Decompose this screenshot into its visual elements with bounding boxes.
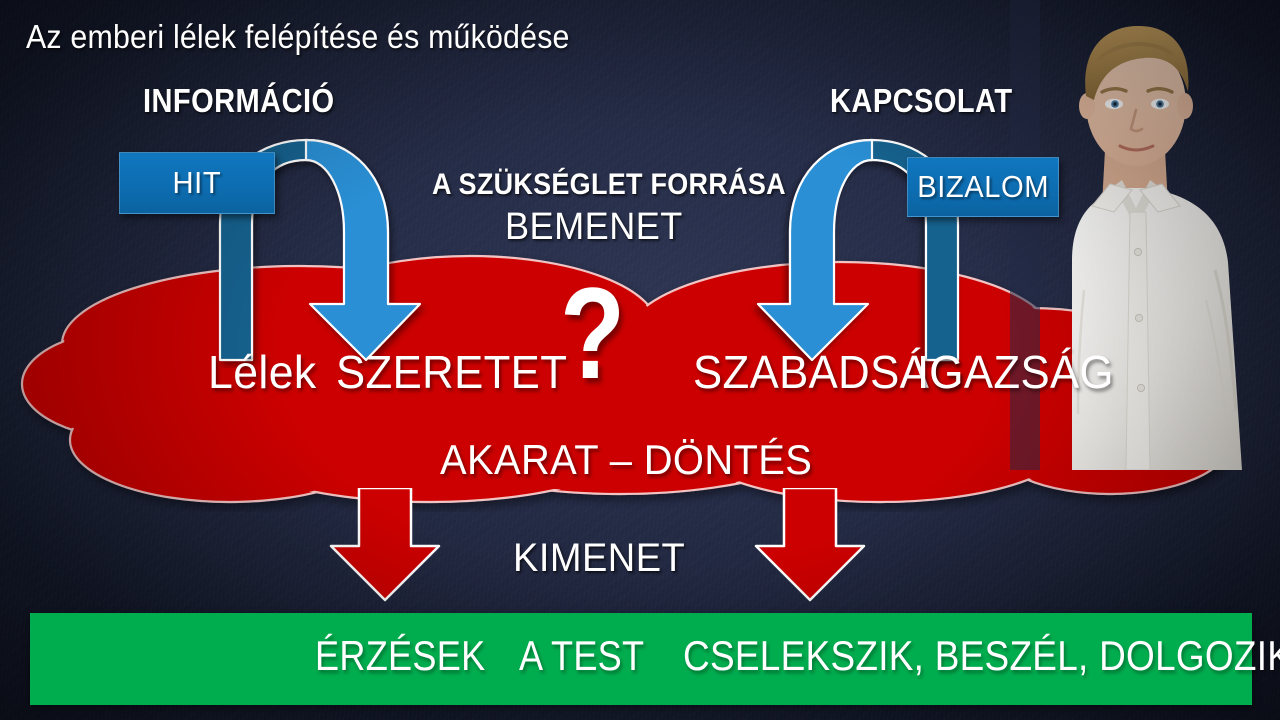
output-arrow-right-icon [750, 488, 870, 603]
cloud-word-lelek: Lélek [208, 345, 317, 399]
label-kimenet: KIMENET [513, 536, 685, 581]
cloud-word-akarat-dontes: AKARAT – DÖNTÉS [440, 436, 812, 484]
slide-title: Az emberi lélek felépítése és működése [26, 18, 570, 56]
green-bar-erzesek: ÉRZÉSEK [315, 632, 485, 680]
label-bemenet: BEMENET [505, 206, 683, 249]
slide-canvas: Az emberi lélek felépítése és működése I… [0, 0, 1280, 720]
cloud-word-szeretet: SZERETET [336, 345, 567, 399]
box-bizalom-label: BIZALOM [917, 169, 1049, 205]
cloud-word-igazsag: IGAZSÁG [917, 345, 1114, 399]
box-hit-label: HIT [173, 165, 222, 201]
person-photo [1010, 0, 1280, 470]
box-hit[interactable]: HIT [119, 152, 275, 214]
green-bar-cselekszik: CSELEKSZIK, BESZÉL, DOLGOZIK [683, 632, 1280, 680]
green-bar-a-test: A TEST [519, 632, 644, 680]
label-kapcsolat: KAPCSOLAT [830, 82, 1013, 120]
question-mark: ? [560, 268, 625, 398]
label-szukseglet-forrasa: A SZÜKSÉGLET FORRÁSA [432, 168, 786, 202]
label-informacio: INFORMÁCIÓ [143, 82, 335, 120]
box-bizalom[interactable]: BIZALOM [907, 157, 1059, 217]
output-arrow-left-icon [325, 488, 445, 603]
